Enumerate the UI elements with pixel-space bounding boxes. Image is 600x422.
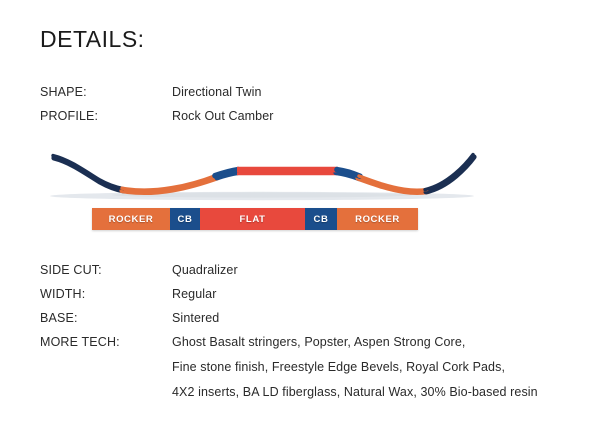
legend-segment-flat: FLAT (200, 208, 305, 230)
board-deck-tip-left (53, 156, 123, 189)
spec-row-profile: PROFILE: Rock Out Camber (40, 108, 274, 125)
spec-label-profile: PROFILE: (40, 108, 172, 125)
spec-value-wrap-more-tech: Ghost Basalt stringers, Popster, Aspen S… (172, 334, 538, 401)
details-panel: DETAILS: SHAPE: Directional Twin PROFILE… (0, 0, 600, 422)
spec-label-side-cut: SIDE CUT: (40, 262, 172, 279)
legend-segment-rocker-right: ROCKER (337, 208, 418, 230)
spec-value-width: Regular (172, 286, 538, 303)
spec-value-base: Sintered (172, 310, 538, 327)
spec-row-shape: SHAPE: Directional Twin (40, 84, 274, 101)
spec-row-side-cut: SIDE CUT: Quadralizer (40, 262, 538, 279)
spec-value-wrap-base: Sintered (172, 310, 538, 327)
spec-value-more-tech-line-3: 4X2 inserts, BA LD fiberglass, Natural W… (172, 384, 538, 401)
spec-list-top: SHAPE: Directional Twin PROFILE: Rock Ou… (40, 84, 274, 132)
spec-value-more-tech-line-1: Ghost Basalt stringers, Popster, Aspen S… (172, 334, 538, 351)
spec-value-more-tech-line-2: Fine stone finish, Freestyle Edge Bevels… (172, 359, 538, 376)
spec-value-side-cut: Quadralizer (172, 262, 538, 279)
spec-row-width: WIDTH: Regular (40, 286, 538, 303)
profile-legend-bar: ROCKER CB FLAT CB ROCKER (92, 208, 418, 230)
spec-value-shape: Directional Twin (172, 84, 274, 101)
spec-label-shape: SHAPE: (40, 84, 172, 101)
legend-segment-rocker-left: ROCKER (92, 208, 170, 230)
spec-value-wrap-shape: Directional Twin (172, 84, 274, 101)
spec-value-wrap-width: Regular (172, 286, 538, 303)
spec-list-bottom: SIDE CUT: Quadralizer WIDTH: Regular BAS… (40, 262, 538, 408)
board-profile-graphic (32, 146, 492, 208)
spec-value-profile: Rock Out Camber (172, 108, 274, 125)
spec-value-wrap-profile: Rock Out Camber (172, 108, 274, 125)
spec-value-wrap-side-cut: Quadralizer (172, 262, 538, 279)
legend-segment-cb-right: CB (305, 208, 337, 230)
legend-segment-cb-left: CB (170, 208, 200, 230)
spec-row-more-tech: MORE TECH: Ghost Basalt stringers, Popst… (40, 334, 538, 401)
spec-label-more-tech: MORE TECH: (40, 334, 172, 351)
page-title: DETAILS: (40, 28, 145, 51)
spec-label-width: WIDTH: (40, 286, 172, 303)
spec-row-base: BASE: Sintered (40, 310, 538, 327)
spec-label-base: BASE: (40, 310, 172, 327)
